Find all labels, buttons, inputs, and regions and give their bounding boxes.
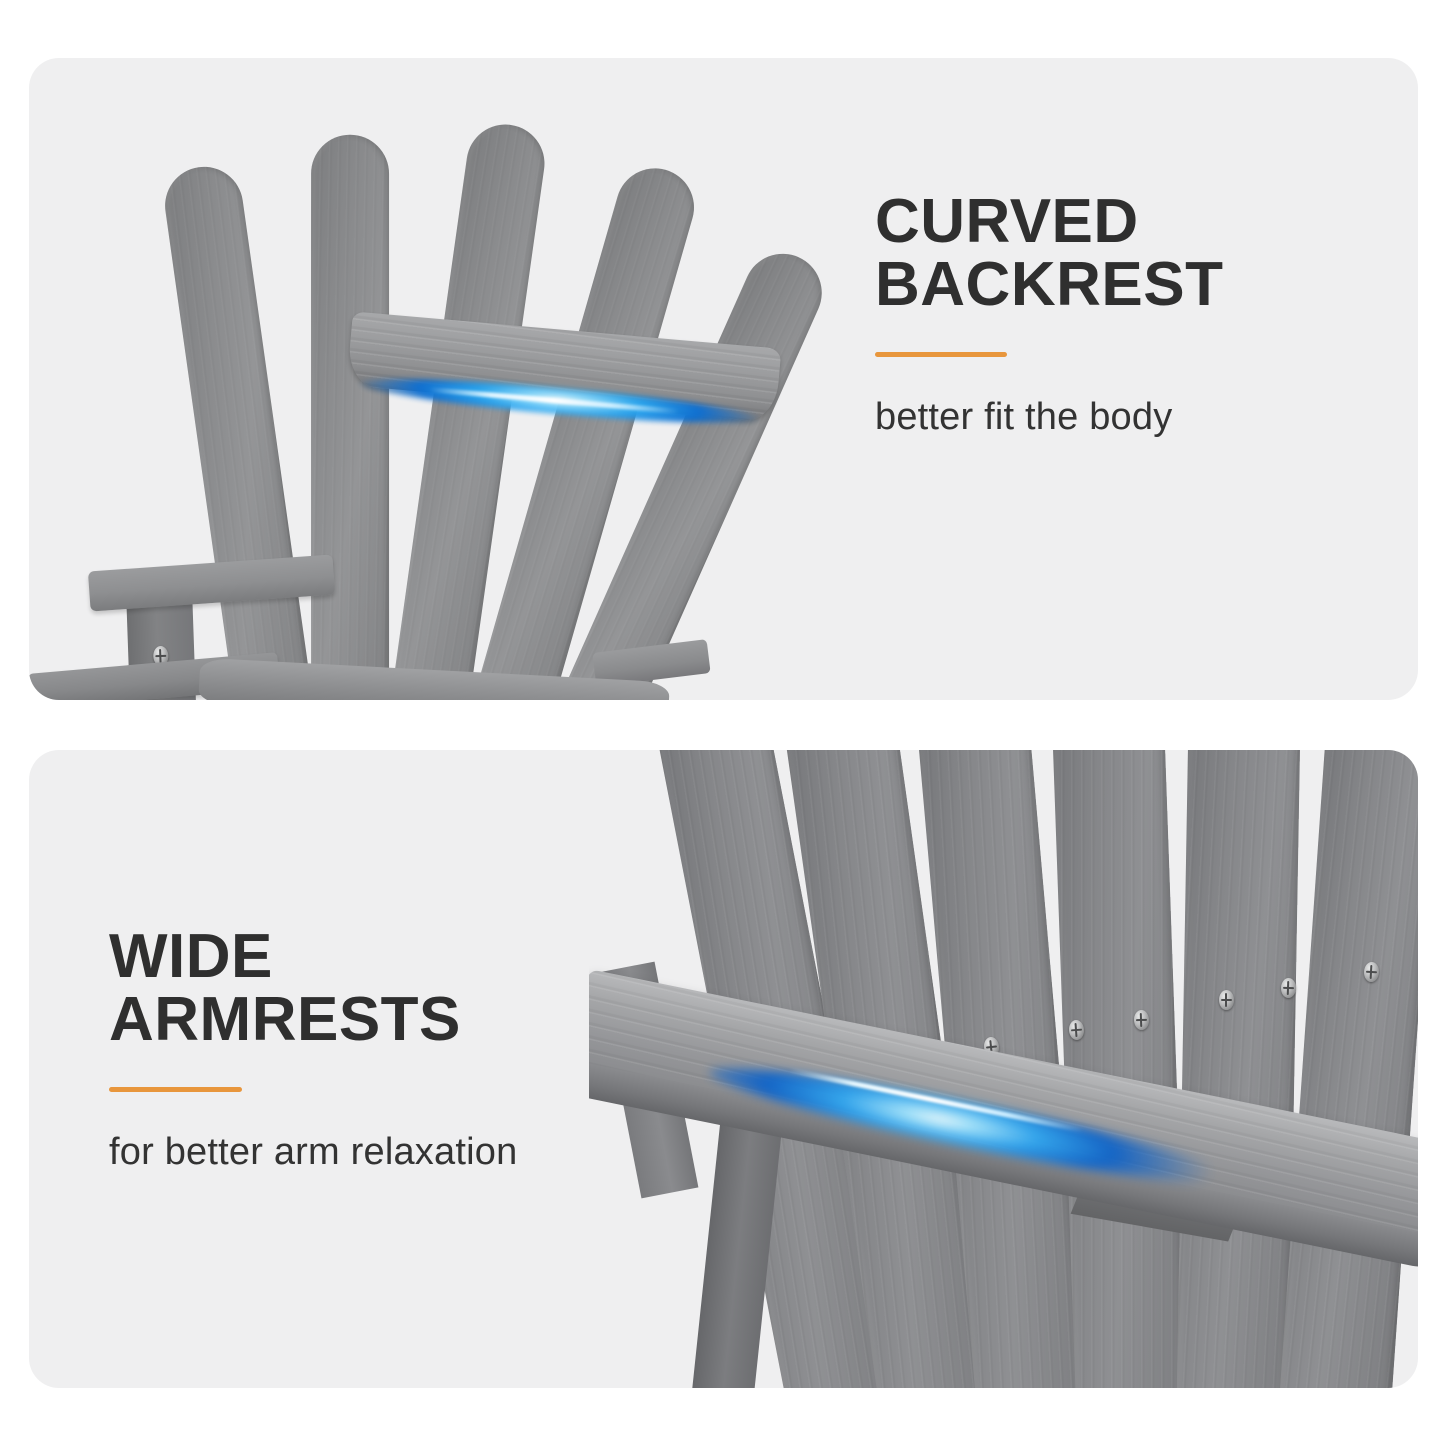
feature-subtext-wide-armrests: for better arm relaxation — [109, 1130, 669, 1176]
accent-divider — [109, 1087, 242, 1092]
feature-text-block-bottom: WIDE ARMRESTS for better arm relaxation — [109, 925, 669, 1176]
page-title-curved-backrest: CURVED BACKREST — [875, 190, 1315, 316]
feature-subtext-curved-backrest: better fit the body — [875, 395, 1315, 441]
feature-panel-curved-backrest: CURVED BACKREST better fit the body — [29, 58, 1418, 700]
screw-icon — [1219, 990, 1234, 1010]
chair-backrest-photo — [29, 58, 889, 700]
page-title-wide-armrests: WIDE ARMRESTS — [109, 925, 669, 1051]
feature-panel-wide-armrests: WIDE ARMRESTS for better arm relaxation — [29, 750, 1418, 1388]
accent-divider — [875, 352, 1007, 357]
backrest-slat — [1175, 750, 1301, 1388]
backrest-slat — [311, 135, 389, 695]
chair-armrest-photo — [589, 750, 1418, 1388]
feature-text-block-top: CURVED BACKREST better fit the body — [875, 190, 1315, 441]
